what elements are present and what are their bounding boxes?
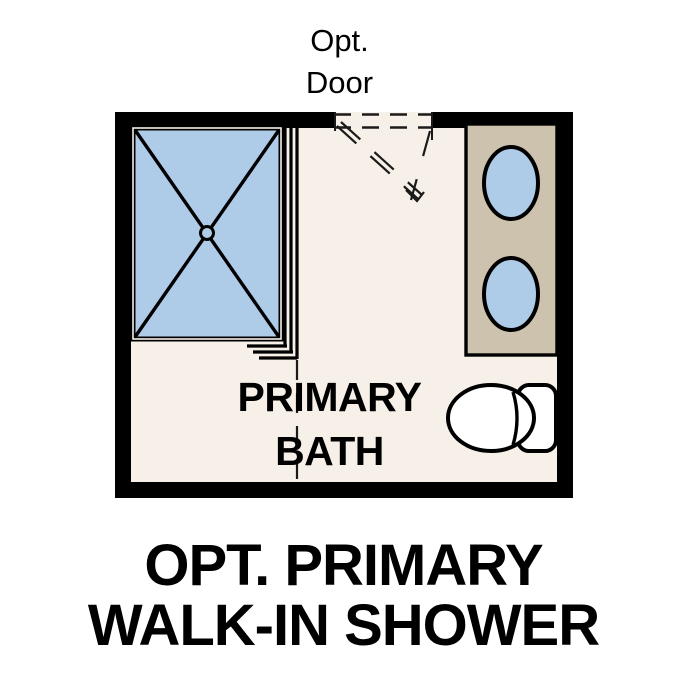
opt-door-callout-line-2: Door bbox=[306, 65, 373, 100]
plan-caption: OPT. PRIMARYWALK-IN SHOWER bbox=[0, 536, 687, 655]
double-vanity bbox=[466, 124, 557, 355]
sink-basin-lower bbox=[484, 258, 538, 330]
sink-basin-upper bbox=[484, 147, 538, 219]
room-label-line-2: BATH bbox=[275, 428, 384, 474]
floor-plan-figure: Opt.Door PRIMARYBATH OPT. PRIMARYWALK-IN… bbox=[0, 0, 687, 687]
wall-bottom bbox=[115, 482, 573, 498]
plan-caption-line-2: WALK-IN SHOWER bbox=[88, 593, 599, 658]
room-label-primary-bath: PRIMARYBATH bbox=[0, 370, 673, 478]
walk-in-shower bbox=[133, 120, 297, 359]
plan-caption-line-1: OPT. PRIMARY bbox=[144, 533, 542, 598]
opt-door-callout: Opt.Door bbox=[0, 20, 683, 104]
opt-door-callout-line-1: Opt. bbox=[310, 23, 369, 58]
shower-drain-icon bbox=[201, 227, 214, 240]
room-label-line-1: PRIMARY bbox=[237, 374, 421, 420]
